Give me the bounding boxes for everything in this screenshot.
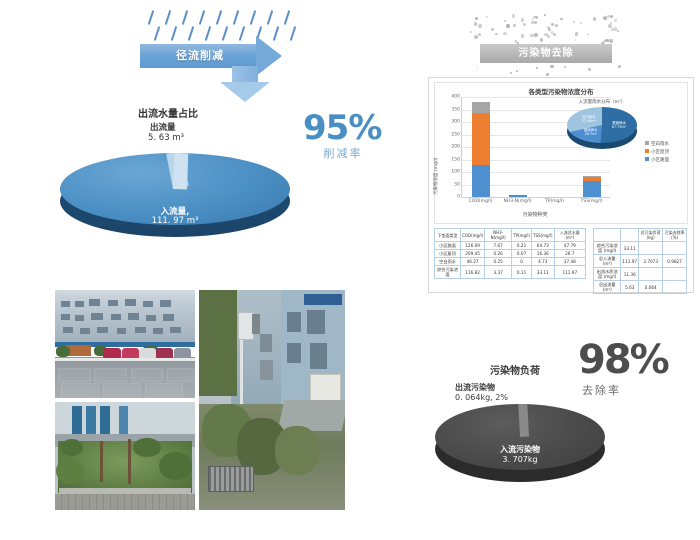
table-cell: 0.26 xyxy=(485,250,512,258)
table-cell: 33.11 xyxy=(621,242,639,255)
inflow-distribution-pie: 入流量雨水分布（m³） 屋面雨水67.79m³路面雨水26.7m³空白雨水37.… xyxy=(559,99,645,155)
down-arrow-head-icon xyxy=(220,82,270,102)
mini-pie-slice-label: 空白雨水37.48m³ xyxy=(580,115,598,123)
chart-x-tick: TP(mg/l) xyxy=(545,199,564,204)
table-cell: 总出流量 (m³) xyxy=(594,281,621,294)
table-cell: 综合污染浓度 (mg/l) xyxy=(594,242,621,255)
pie2-inflow-value: 3. 707kg xyxy=(435,455,605,464)
table-header-cell: NH3-N(mg/l) xyxy=(485,229,512,242)
mini-pie-slice-label: 屋面雨水67.79m³ xyxy=(610,121,628,129)
chart-y-tick: 300 xyxy=(451,120,460,125)
table-cell: 26.7 xyxy=(554,250,585,258)
pollutant-load-table: 总污染负荷 (kg)污染去除率 (%) 综合污染浓度 (mg/l)33.11总入… xyxy=(593,228,687,294)
chart-bar-segment xyxy=(472,102,490,114)
table-cell: 64.73 xyxy=(532,242,555,250)
table-row: 总入流量 (m³)111.973.70730.9827 xyxy=(594,255,687,268)
table-cell: 小区屋顶 xyxy=(435,250,461,258)
report-panel: 各类型污染物浓度分布 污染物浓度 (mg/l) 0501001502002503… xyxy=(428,77,694,293)
table-cell xyxy=(663,281,687,294)
pie1-slice-outflow-highlight xyxy=(173,153,188,189)
pie1-percent: 95% xyxy=(303,111,383,145)
particles-icon xyxy=(470,14,630,44)
pie1-inflow-value: 111. 97 m³ xyxy=(60,216,290,226)
table-header-cell: 总污染负荷 (kg) xyxy=(639,229,663,242)
pollutant-load-pie-chart: 污染物负荷 出流污染物 0. 064kg, 2% 入流污染物 3. 707kg … xyxy=(400,330,700,505)
runoff-reduction-graphic: 径流削减 xyxy=(140,8,330,98)
site-photo-grid xyxy=(55,290,350,520)
building-side-monitoring-pole-drain-photo xyxy=(199,290,345,510)
pie1-disc: 入流量, 111. 97 m³ xyxy=(60,153,290,241)
chart-y-tick: 150 xyxy=(451,157,460,162)
table-cell: 0.9827 xyxy=(663,255,687,268)
table-cell: 126.09 xyxy=(461,242,485,250)
chart-x-tick: NH3-N(mg/l) xyxy=(503,199,531,204)
table-cell: 出流水质浓度 (mg/l) xyxy=(594,268,621,281)
table-cell: 0.21 xyxy=(512,242,532,250)
table-cell: 16.36 xyxy=(532,250,555,258)
chart-legend: 空白雨水小区屋顶小区路面 xyxy=(645,141,685,165)
chart-legend-item: 小区路面 xyxy=(645,157,685,165)
residential-buildings-wet-parking-lot-photo xyxy=(55,290,195,398)
table-cell: 111.97 xyxy=(621,255,639,268)
chart-legend-item: 空白雨水 xyxy=(645,141,685,149)
chart-bar-segment xyxy=(583,181,601,197)
table-cell: 111.97 xyxy=(554,266,585,279)
chart-y-tick: 0 xyxy=(457,195,460,200)
right-arrow-head-icon xyxy=(256,36,282,76)
pollutant-removal-graphic: 污染物去除 xyxy=(470,14,630,70)
chart-legend-item: 小区屋顶 xyxy=(645,149,685,157)
chart-y-tick: 200 xyxy=(451,145,460,150)
pie2-slice-outflow xyxy=(518,404,529,437)
pie2-inflow-label: 入流污染物 xyxy=(435,444,605,455)
table-cell: 空白雨水 xyxy=(435,258,461,266)
pie2-outflow-label: 出流污染物 xyxy=(455,382,495,393)
chart-legend-swatch xyxy=(645,141,649,145)
table-cell: 3.37 xyxy=(485,266,512,279)
chart-y-tick: 350 xyxy=(451,107,460,112)
chart-bar xyxy=(472,102,490,197)
inflow-outflow-pie-chart: 出流水量占比 出流量 5. 63 m³ 入流量, 111. 97 m³ 95% … xyxy=(60,105,390,240)
table-cell: 7.67 xyxy=(485,242,512,250)
pie2-disc: 入流污染物 3. 707kg xyxy=(435,404,605,484)
mini-pie-title: 入流量雨水分布（m³） xyxy=(559,99,645,105)
chart-y-tick: 100 xyxy=(451,170,460,175)
pie2-percent: 98% xyxy=(578,340,668,380)
table-cell: 11.36 xyxy=(621,268,639,281)
chart-x-tick: TSS(mg/l) xyxy=(581,199,603,204)
pie1-outflow-label: 出流量 xyxy=(150,121,176,133)
table-cell: 0.11 xyxy=(512,266,532,279)
pollutant-concentration-table: 下垫面类型COD(mg/l)NH3-N(mg/l)TP(mg/l)TSS(mg/… xyxy=(434,228,586,279)
chart-x-tick: COD(mg/l) xyxy=(469,199,493,204)
table-header-cell xyxy=(594,229,621,242)
table-cell: 47.79 xyxy=(554,242,585,250)
table-cell: 33.11 xyxy=(532,266,555,279)
table-row: 空白雨水46.270.2504.7337.48 xyxy=(435,258,586,266)
table-cell: 小区路面 xyxy=(435,242,461,250)
chart-bar-segment xyxy=(472,165,490,197)
runoff-arrow-label: 径流削减 xyxy=(152,47,248,63)
pie2-title: 污染物负荷 xyxy=(490,362,540,377)
table-row: 总出流量 (m³)5.630.064 xyxy=(594,281,687,294)
table-cell xyxy=(639,268,663,281)
mini-pie-disc: 屋面雨水67.79m³路面雨水26.7m³空白雨水37.48m³ xyxy=(567,107,637,149)
chart-y-axis-title: 污染物浓度 (mg/l) xyxy=(433,158,439,195)
pie1-kpi: 95% 削减率 xyxy=(303,111,383,161)
chart-bar-segment xyxy=(472,113,490,165)
pie1-outflow-value: 5. 63 m³ xyxy=(148,133,184,143)
pie2-percent-sub: 去除率 xyxy=(582,382,621,398)
table-header-cell: COD(mg/l) xyxy=(461,229,485,242)
table-cell: 5.63 xyxy=(621,281,639,294)
table-header-cell: 污染去除率 (%) xyxy=(663,229,687,242)
table-header-cell: TSS(mg/l) xyxy=(532,229,555,242)
table-cell: 0 xyxy=(512,258,532,266)
pie2-outflow-value: 0. 064kg, 2% xyxy=(455,393,508,402)
table-cell: 116.82 xyxy=(461,266,485,279)
table-row: 综合污染浓度116.823.370.1133.11111.97 xyxy=(435,266,586,279)
table-cell: 37.48 xyxy=(554,258,585,266)
table-row: 小区路面126.097.670.2164.7347.79 xyxy=(435,242,586,250)
table-row: 出流水质浓度 (mg/l)11.36 xyxy=(594,268,687,281)
table-cell: 209.45 xyxy=(461,250,485,258)
table-cell: 0.064 xyxy=(639,281,663,294)
rain-lines-icon xyxy=(150,8,310,46)
concentration-chart-box: 各类型污染物浓度分布 污染物浓度 (mg/l) 0501001502002503… xyxy=(434,82,688,224)
pollutant-removal-bar: 污染物去除 xyxy=(480,44,612,63)
table-header-cell xyxy=(621,229,639,242)
chart-bar xyxy=(509,195,527,197)
chart-y-tick: 50 xyxy=(454,182,460,187)
mini-pie-slice-label: 路面雨水26.7m³ xyxy=(582,128,600,136)
table-header-cell: 下垫面类型 xyxy=(435,229,461,242)
table-cell: 综合污染浓度 xyxy=(435,266,461,279)
chart-gridline xyxy=(462,97,610,98)
table-cell xyxy=(663,242,687,255)
chart-bar xyxy=(583,176,601,197)
table-cell: 3.7073 xyxy=(639,255,663,268)
table-cell xyxy=(639,242,663,255)
chart-title: 各类型污染物浓度分布 xyxy=(435,86,687,96)
particles-residual-icon xyxy=(476,64,626,76)
table-cell xyxy=(663,268,687,281)
table-row: 小区屋顶209.450.260.0716.3626.7 xyxy=(435,250,586,258)
table-header-cell: 入流总水量 (m³) xyxy=(554,229,585,242)
table-cell: 0.07 xyxy=(512,250,532,258)
chart-legend-swatch xyxy=(645,157,649,161)
chart-bar-segment xyxy=(509,195,527,197)
chart-y-tick: 250 xyxy=(451,132,460,137)
chart-y-tick: 400 xyxy=(451,95,460,100)
pollutant-removal-label: 污染物去除 xyxy=(480,44,612,63)
table-header-cell: TP(mg/l) xyxy=(512,229,532,242)
chart-x-axis-title: 污染物种类 xyxy=(461,211,609,218)
table-row: 综合污染浓度 (mg/l)33.11 xyxy=(594,242,687,255)
table-cell: 46.27 xyxy=(461,258,485,266)
pie1-title: 出流水量占比 xyxy=(138,105,198,120)
table-cell: 4.73 xyxy=(532,258,555,266)
table-cell: 0.25 xyxy=(485,258,512,266)
chart-legend-swatch xyxy=(645,149,649,153)
rain-garden-planting-bed-photo xyxy=(55,402,195,510)
table-cell: 总入流量 (m³) xyxy=(594,255,621,268)
